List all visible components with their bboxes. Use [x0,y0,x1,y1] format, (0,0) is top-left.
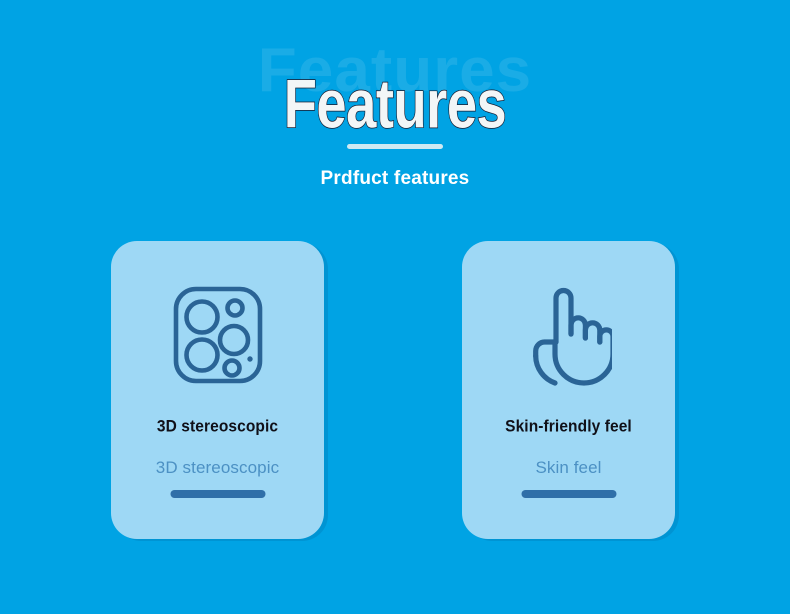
feature-card-subtitle: Skin feel [462,458,675,478]
title-block: Features Features [0,40,790,160]
feature-card[interactable]: 3D stereoscopic 3D stereoscopic [111,241,324,539]
feature-card[interactable]: Skin-friendly feel Skin feel [462,241,675,539]
title-divider [347,144,443,149]
page-title: Features [12,70,778,138]
feature-card-accent-bar [521,490,616,498]
features-section: Features Features Prdfuct features 3D s [0,0,790,614]
pointing-hand-icon [462,283,675,387]
feature-card-accent-bar [170,490,265,498]
feature-card-title: Skin-friendly feel [462,417,675,436]
feature-card-subtitle: 3D stereoscopic [111,458,324,478]
feature-card-title: 3D stereoscopic [111,417,324,436]
section-header: Features Features Prdfuct features [0,0,790,160]
section-subtitle: Prdfuct features [0,168,790,190]
feature-card-list: 3D stereoscopic 3D stereoscopic [0,241,790,541]
camera-module-icon [111,283,324,387]
